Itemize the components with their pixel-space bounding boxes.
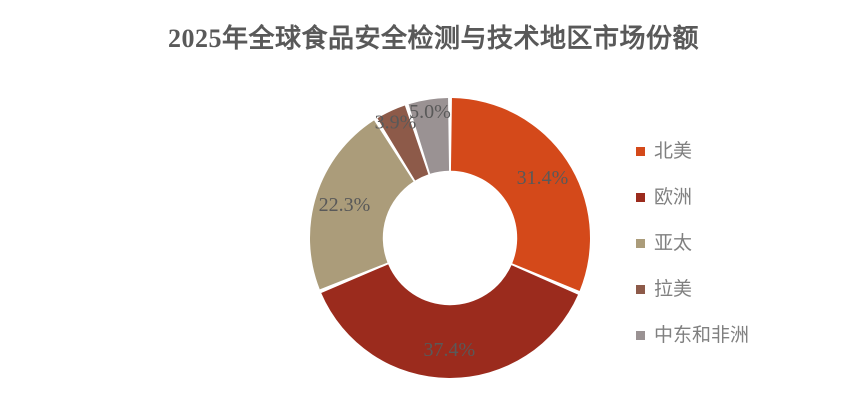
legend-swatch-icon <box>636 193 645 202</box>
slice-value-label: 31.4% <box>517 167 569 189</box>
legend-swatch-icon <box>636 147 645 156</box>
legend-label: 北美 <box>654 142 692 161</box>
slice-value-label: 5.0% <box>409 101 451 123</box>
legend: 北美欧洲亚太拉美中东和非洲 <box>636 128 846 358</box>
slice-value-label: 37.4% <box>423 339 475 361</box>
slice-value-label: 22.3% <box>319 194 371 216</box>
legend-swatch-icon <box>636 331 645 340</box>
legend-item[interactable]: 亚太 <box>636 220 846 266</box>
pie-slice[interactable] <box>310 120 414 289</box>
pie-slice[interactable] <box>451 98 590 291</box>
legend-item[interactable]: 北美 <box>636 128 846 174</box>
legend-label: 欧洲 <box>654 188 692 207</box>
legend-swatch-icon <box>636 239 645 248</box>
slice-value-label: 3.9% <box>375 111 417 133</box>
legend-item[interactable]: 中东和非洲 <box>636 312 846 358</box>
donut-chart-figure: 2025年全球食品安全检测与技术地区市场份额 31.4%37.4%22.3%3.… <box>0 0 867 417</box>
legend-item[interactable]: 欧洲 <box>636 174 846 220</box>
chart-title: 2025年全球食品安全检测与技术地区市场份额 <box>0 18 867 55</box>
legend-label: 中东和非洲 <box>654 326 749 345</box>
pie-slice[interactable] <box>321 264 578 378</box>
legend-label: 拉美 <box>654 280 692 299</box>
pie-slice[interactable] <box>409 98 449 174</box>
slice-label-group: 31.4%37.4%22.3%3.9%5.0% <box>319 101 569 361</box>
pie-slice[interactable] <box>377 105 428 180</box>
legend-swatch-icon <box>636 285 645 294</box>
slice-group <box>310 98 590 378</box>
legend-label: 亚太 <box>654 234 692 253</box>
legend-item[interactable]: 拉美 <box>636 266 846 312</box>
